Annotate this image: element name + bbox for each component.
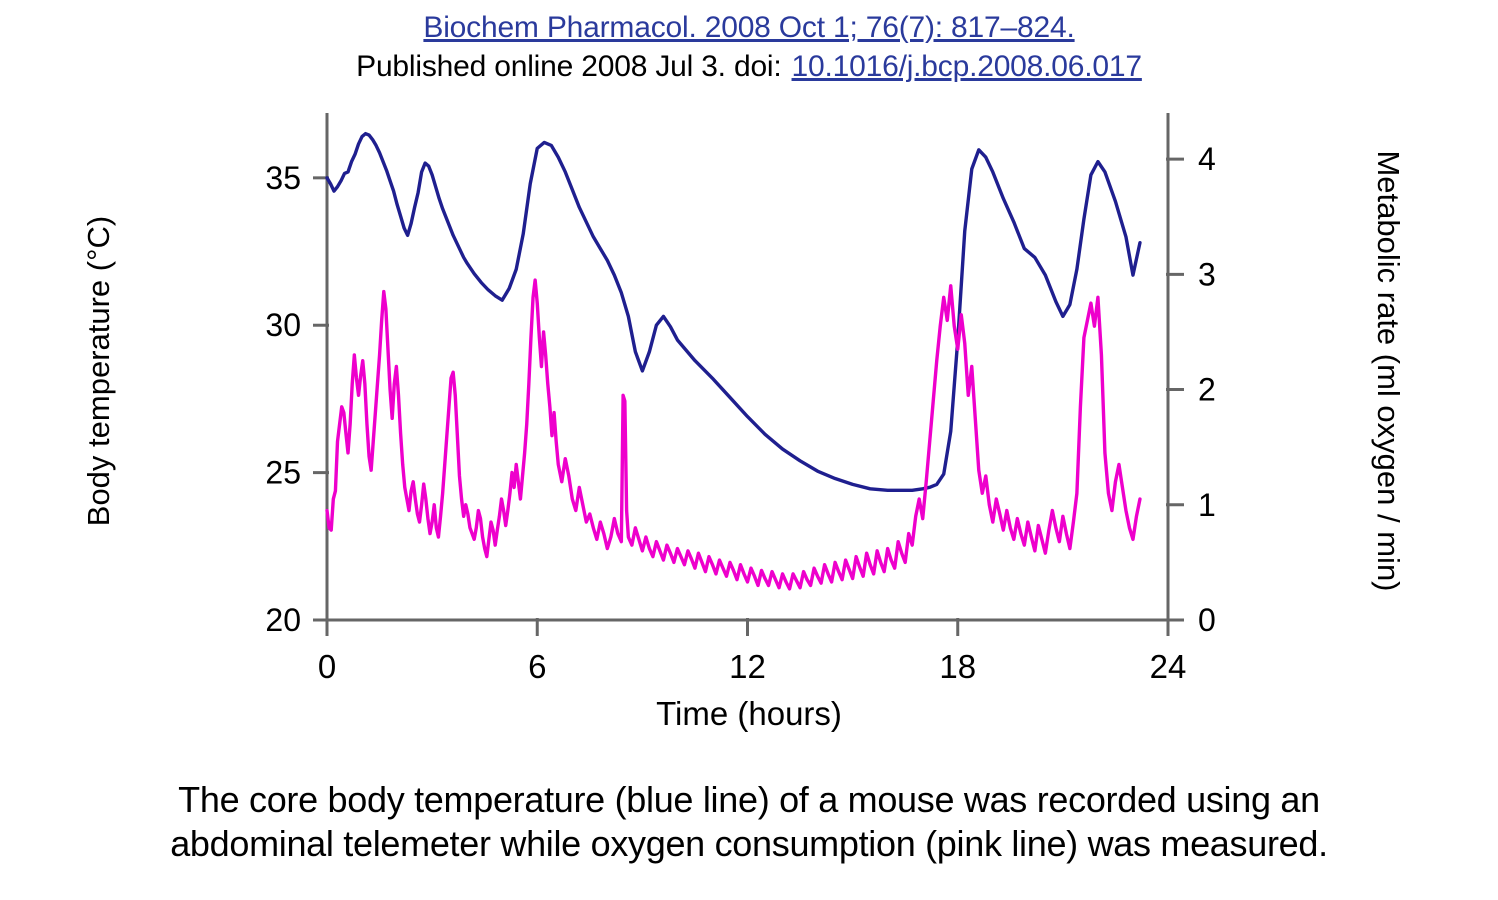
svg-text:30: 30 [265, 307, 301, 343]
caption-line-1: The core body temperature (blue line) of… [0, 778, 1498, 822]
journal-citation-link[interactable]: Biochem Pharmacol. 2008 Oct 1; 76(7): 81… [423, 11, 1074, 44]
svg-text:25: 25 [265, 455, 301, 491]
svg-text:0: 0 [1198, 602, 1216, 638]
svg-text:4: 4 [1198, 141, 1216, 177]
axis-ticks [313, 159, 1184, 636]
citation-journal-line: Biochem Pharmacol. 2008 Oct 1; 76(7): 81… [0, 8, 1498, 47]
doi-link[interactable]: 10.1016/j.bcp.2008.06.017 [792, 50, 1142, 83]
chart-plot: 202530350123406121824 [0, 105, 1498, 705]
svg-text:6: 6 [528, 648, 546, 685]
published-online-label: Published online 2008 Jul 3. doi: [356, 50, 781, 83]
metabolic-rate-line [327, 280, 1140, 589]
svg-text:0: 0 [318, 648, 336, 685]
svg-text:24: 24 [1150, 648, 1187, 685]
axis-tick-labels: 202530350123406121824 [265, 141, 1215, 685]
figure-caption: The core body temperature (blue line) of… [0, 778, 1498, 866]
svg-text:12: 12 [729, 648, 766, 685]
svg-text:2: 2 [1198, 372, 1216, 408]
figure-panel: Body temperature (°C) Metabolic rate (ml… [0, 105, 1498, 770]
svg-text:3: 3 [1198, 256, 1216, 292]
svg-text:1: 1 [1198, 487, 1216, 523]
data-series-group [327, 134, 1140, 589]
svg-text:18: 18 [939, 648, 976, 685]
caption-line-2: abdominal telemeter while oxygen consump… [0, 822, 1498, 866]
citation-published-line: Published online 2008 Jul 3. doi:10.1016… [0, 47, 1498, 86]
body-temperature-line [327, 134, 1140, 491]
svg-text:35: 35 [265, 160, 301, 196]
citation-block: Biochem Pharmacol. 2008 Oct 1; 76(7): 81… [0, 8, 1498, 86]
svg-text:20: 20 [265, 602, 301, 638]
